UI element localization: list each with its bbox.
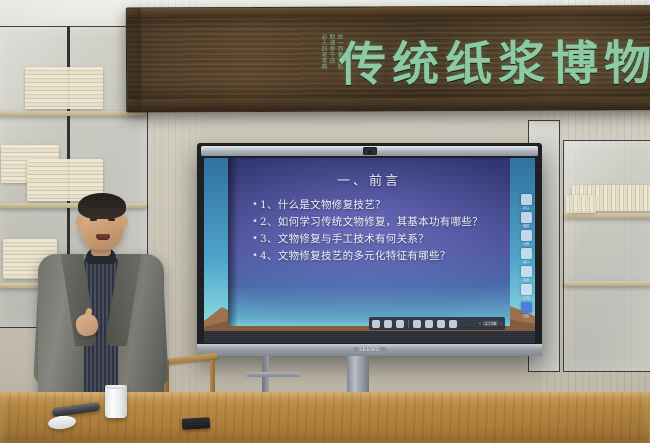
bullet-text: 2、如何学习传统文物修复，其基本功有哪些？ xyxy=(260,215,483,229)
cabinet-shelf xyxy=(564,281,650,286)
rail-label: 白板 xyxy=(521,313,532,318)
photo-scene: 故一而素光包 助速参千返 必人四老零典 传统纸浆博物馆 一、前言 xyxy=(0,0,650,443)
paper-scroll-stack xyxy=(566,195,596,213)
annotation-toolbar[interactable]: ‹ 1 / 26 › xyxy=(369,317,505,330)
bullet-marker: • xyxy=(250,198,260,212)
presenter-hair xyxy=(78,193,126,219)
rail-label: 应用 xyxy=(521,277,532,282)
bullet-text: 1、什么是文物修复技艺？ xyxy=(260,198,386,212)
cabinet-glass-right xyxy=(564,141,650,371)
page-indicator: 1 / 26 xyxy=(483,321,499,326)
panel-screen[interactable]: 一、前言 • 1、什么是文物修复技艺？ • 2、如何学习传统文物修复，其基本功有… xyxy=(204,158,535,343)
presentation-slide[interactable]: 一、前言 • 1、什么是文物修复技艺？ • 2、如何学习传统文物修复，其基本功有… xyxy=(228,158,510,326)
bullet-text: 4、文物修复技艺的多元化特征有哪些？ xyxy=(260,249,451,263)
list-item: • 1、什么是文物修复技艺？ xyxy=(250,198,502,212)
white-cup[interactable] xyxy=(105,385,127,418)
page-prev-button[interactable]: ‹ xyxy=(479,321,481,327)
inscription-column-3: 必人四老零典 xyxy=(320,34,327,90)
plaque-inscription: 故一而素光包 助速参千返 必人四老零典 xyxy=(293,34,343,90)
presenter-ear-left xyxy=(76,216,83,228)
rail-label: 批注 xyxy=(521,205,532,210)
wooden-table xyxy=(0,392,650,443)
rail-label: 窗口 xyxy=(521,259,532,264)
rail-label: 截屏 xyxy=(521,223,532,228)
rail-label: 分屏 xyxy=(521,241,532,246)
more-icon[interactable] xyxy=(449,320,457,328)
wooden-chair xyxy=(162,356,218,396)
presenter-eye-right xyxy=(108,218,115,221)
smartphone[interactable] xyxy=(182,417,211,429)
list-item: • 2、如何学习传统文物修复，其基本功有哪些？ xyxy=(250,215,502,229)
presenter xyxy=(38,196,164,406)
split-screen-icon[interactable]: 分屏 xyxy=(521,230,532,241)
bullet-marker: • xyxy=(250,232,260,246)
bullet-text: 3、文物修复与手工技术有何关系？ xyxy=(260,232,429,246)
camera-icon xyxy=(363,147,377,155)
calculator-icon[interactable]: 工具 xyxy=(521,284,532,295)
display-cabinet-right xyxy=(563,140,650,372)
bullet-marker: • xyxy=(250,215,260,229)
list-item: • 3、文物修复与手工技术有何关系？ xyxy=(250,232,502,246)
presenter-ear-right xyxy=(121,216,128,228)
whiteboard-icon[interactable]: 白板 xyxy=(521,302,532,313)
plaque-bottom-frame xyxy=(127,96,650,111)
desktop-taskbar[interactable] xyxy=(204,331,535,343)
slide-bullet-list: • 1、什么是文物修复技艺？ • 2、如何学习传统文物修复，其基本功有哪些？ •… xyxy=(250,198,502,266)
cursor-select-icon[interactable] xyxy=(372,320,380,328)
toolbar-divider xyxy=(408,320,409,328)
slide-title: 一、前言 xyxy=(228,170,510,189)
window-icon[interactable]: 窗口 xyxy=(521,248,532,259)
rail-label: 工具 xyxy=(521,295,532,300)
chair-leg xyxy=(210,360,215,396)
page-navigator[interactable]: ‹ 1 / 26 › xyxy=(479,321,502,327)
list-item: • 4、文物修复技艺的多元化特征有哪些？ xyxy=(250,249,502,263)
panel-brand-label: SEEWO xyxy=(354,347,386,354)
plaque-top-frame xyxy=(127,5,650,17)
clear-icon[interactable] xyxy=(437,320,445,328)
cabinet-shelf xyxy=(0,111,147,116)
bullet-marker: • xyxy=(250,249,260,263)
eraser-icon[interactable] xyxy=(413,320,421,328)
side-tool-rail[interactable]: 批注 截屏 分屏 窗口 应用 工具 白板 xyxy=(519,194,533,313)
pen-tool-icon[interactable]: 批注 xyxy=(521,194,532,205)
paper-scroll-stack xyxy=(25,67,103,109)
undo-icon[interactable] xyxy=(425,320,433,328)
wooden-plaque: 故一而素光包 助速参千返 必人四老零典 传统纸浆博物馆 xyxy=(126,4,650,112)
cabinet-shelf xyxy=(564,213,650,218)
apps-grid-icon[interactable]: 应用 xyxy=(521,266,532,277)
pen-icon[interactable] xyxy=(384,320,392,328)
screen-capture-icon[interactable]: 截屏 xyxy=(521,212,532,223)
highlighter-icon[interactable] xyxy=(396,320,404,328)
interactive-flat-panel[interactable]: 一、前言 • 1、什么是文物修复技艺？ • 2、如何学习传统文物修复，其基本功有… xyxy=(197,143,542,356)
page-next-button[interactable]: › xyxy=(500,321,502,327)
plaque-main-title: 传统纸浆博物馆 xyxy=(339,24,650,95)
presenter-mouth xyxy=(96,234,110,240)
inscription-column-2: 助速参千返 xyxy=(328,34,335,90)
presenter-eye-left xyxy=(90,218,97,221)
panel-stand-crossbar xyxy=(247,372,299,377)
plaque-left-cap xyxy=(127,8,141,111)
